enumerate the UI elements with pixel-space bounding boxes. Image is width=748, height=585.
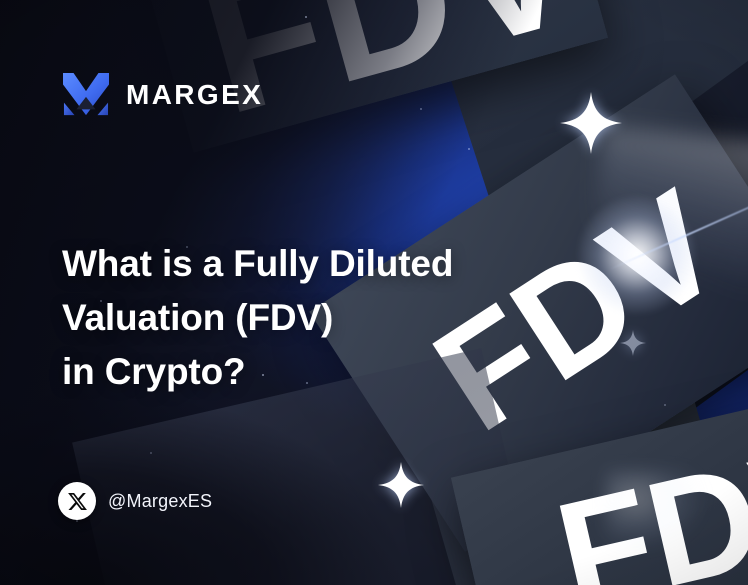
social-handle-text: @MargexES <box>108 492 212 510</box>
headline-line-3: in Crypto? <box>62 345 532 399</box>
brand-wordmark: MARGEX <box>126 81 263 109</box>
brand-logo-lockup[interactable]: MARGEX <box>62 72 263 118</box>
social-banner: FDV FDV FDV <box>0 0 748 585</box>
margex-chevron-m-icon <box>62 72 110 118</box>
headline-line-1: What is a Fully Diluted <box>62 237 532 291</box>
headline-line-2: Valuation (FDV) <box>62 291 532 345</box>
social-handle-row[interactable]: @MargexES <box>58 482 212 520</box>
x-twitter-icon[interactable] <box>58 482 96 520</box>
page-title: What is a Fully Diluted Valuation (FDV) … <box>62 237 532 399</box>
banner-content: MARGEX What is a Fully Diluted Valuation… <box>0 0 748 585</box>
